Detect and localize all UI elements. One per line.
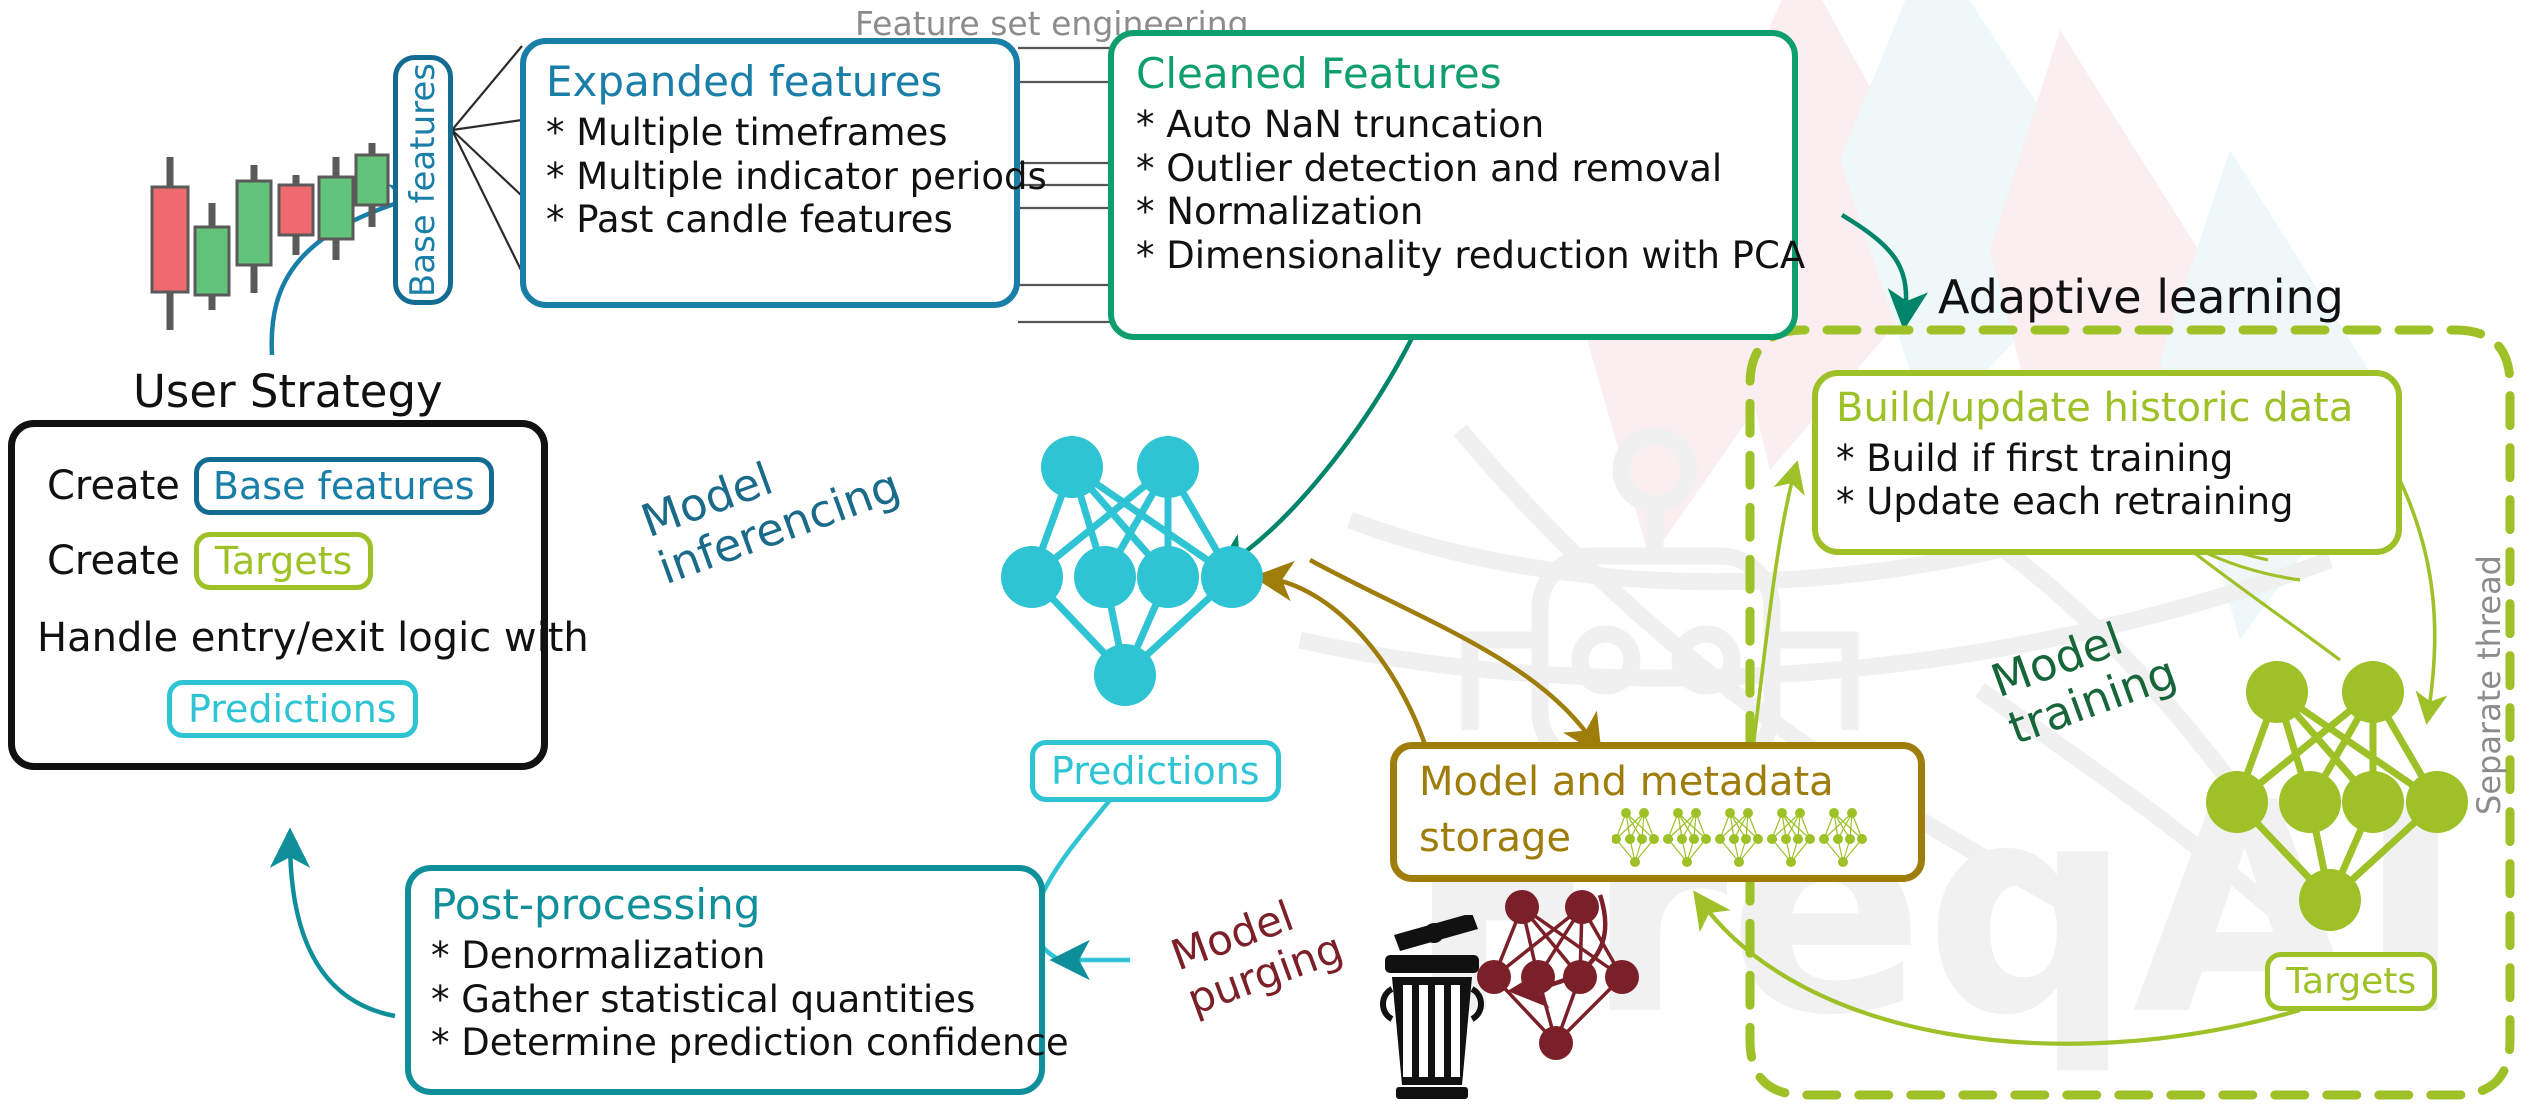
expanded-features-list: Multiple timeframes Multiple indicator p…	[546, 111, 994, 242]
label-adaptive-learning: Adaptive learning	[1938, 270, 2344, 324]
build-update-list: Build if first training Update each retr…	[1836, 437, 2378, 524]
strategy-row-base-features: Create Base features	[47, 457, 494, 515]
post-processing-card: Post-processing Denormalization Gather s…	[405, 865, 1045, 1095]
build-update-historic-data-card: Build/update historic data Build if firs…	[1812, 370, 2402, 555]
user-strategy-card: Create Base features Create Targets Hand…	[8, 420, 548, 770]
pill-targets[interactable]: Targets	[194, 532, 373, 590]
post-processing-title: Post-processing	[431, 881, 1019, 928]
list-item: Dimensionality reduction with PCA	[1136, 234, 1770, 278]
predictions-pill-wrap: Predictions	[1030, 740, 1281, 802]
storage-networks-stack-icon	[1612, 807, 1902, 869]
pill-predictions-output[interactable]: Predictions	[1030, 740, 1281, 802]
list-item: Build if first training	[1836, 437, 2378, 481]
list-item: Multiple indicator periods	[546, 155, 994, 199]
build-update-title: Build/update historic data	[1836, 386, 2378, 431]
base-features-tab-label: Base features	[403, 63, 443, 297]
strategy-row-predictions: Predictions	[167, 680, 418, 738]
freqai-architecture-diagram: FreqAI	[0, 0, 2539, 1104]
list-item: Update each retraining	[1836, 480, 2378, 524]
strategy-row-targets: Create Targets	[47, 532, 373, 590]
storage-line-2: storage	[1419, 815, 1571, 861]
list-item: Past candle features	[546, 198, 994, 242]
cleaned-features-title: Cleaned Features	[1136, 50, 1770, 97]
list-item: Gather statistical quantities	[431, 978, 1019, 1022]
pill-targets-output[interactable]: Targets	[2265, 952, 2437, 1011]
create-label-2: Create	[47, 538, 180, 584]
create-label-1: Create	[47, 463, 180, 509]
purged-neural-network-icon	[1470, 885, 1650, 1070]
pill-base-features[interactable]: Base features	[194, 457, 494, 515]
candlestick-chart-icon	[140, 135, 390, 355]
cleaned-features-list: Auto NaN truncation Outlier detection an…	[1136, 103, 1770, 278]
targets-pill-wrap: Targets	[2265, 952, 2437, 1011]
inference-neural-network-icon	[1000, 425, 1290, 725]
entry-exit-logic-text: Handle entry/exit logic with	[37, 615, 589, 661]
list-item: Outlier detection and removal	[1136, 147, 1770, 191]
user-strategy-title: User Strategy	[133, 365, 443, 418]
list-item: Denormalization	[431, 934, 1019, 978]
expanded-features-card: Expanded features Multiple timeframes Mu…	[520, 38, 1020, 308]
strategy-row-logic: Handle entry/exit logic with	[37, 615, 589, 661]
model-metadata-storage-card: Model and metadata storage	[1390, 742, 1925, 882]
list-item: Auto NaN truncation	[1136, 103, 1770, 147]
list-item: Determine prediction confidence	[431, 1021, 1019, 1065]
training-neural-network-icon	[2205, 650, 2495, 950]
expanded-features-title: Expanded features	[546, 58, 994, 105]
base-features-tab[interactable]: Base features	[393, 55, 453, 305]
cleaned-features-card: Cleaned Features Auto NaN truncation Out…	[1108, 30, 1798, 340]
list-item: Multiple timeframes	[546, 111, 994, 155]
list-item: Normalization	[1136, 190, 1770, 234]
storage-line-1: Model and metadata	[1419, 759, 1834, 805]
pill-predictions[interactable]: Predictions	[167, 680, 418, 738]
post-processing-list: Denormalization Gather statistical quant…	[431, 934, 1019, 1065]
